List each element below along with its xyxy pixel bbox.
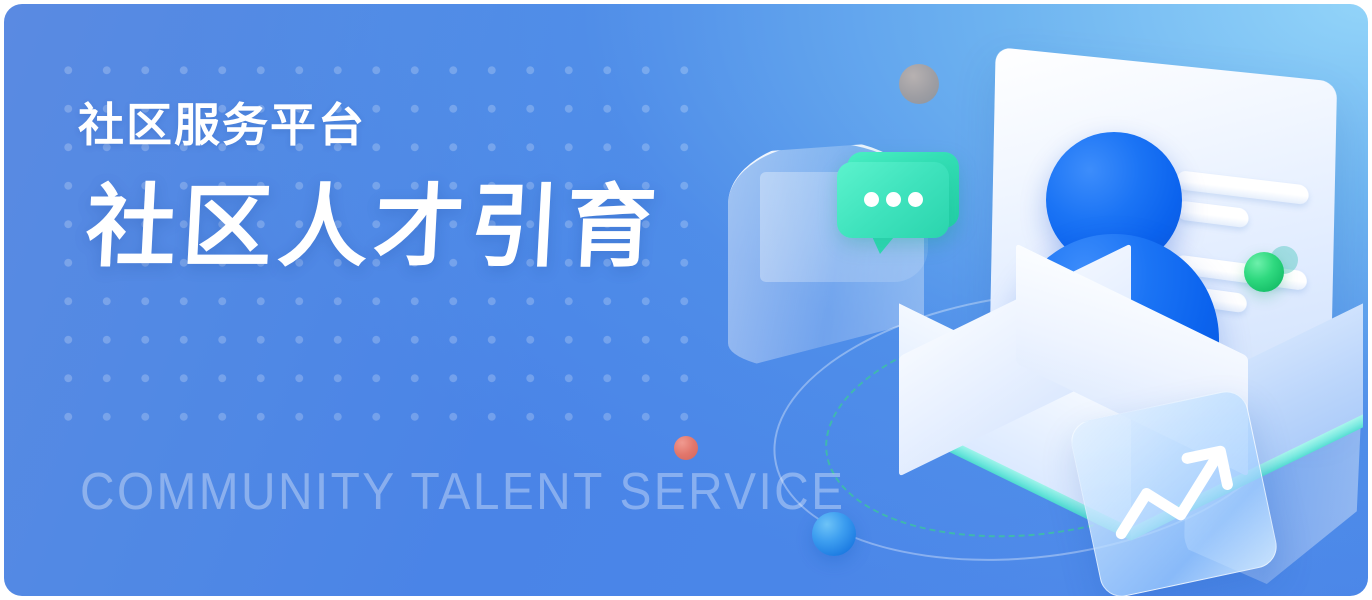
kicker-text: 社区服务平台	[78, 100, 778, 152]
trend-up-arrow-icon	[1067, 387, 1278, 596]
sphere-gray-icon	[899, 64, 939, 104]
banner-root: 社区服务平台 社区人才引育 COMMUNITY TALENT SERVICE	[0, 0, 1372, 600]
chat-dot-2	[886, 192, 901, 207]
chat-dot-3	[908, 192, 923, 207]
sphere-red-icon	[674, 436, 698, 460]
card-line-1	[1177, 170, 1309, 205]
page-title: 社区人才引育	[83, 178, 780, 279]
sphere-green-icon	[1244, 252, 1284, 292]
headline-block: 社区服务平台 社区人才引育	[78, 100, 778, 278]
chat-dot-1	[864, 192, 879, 207]
banner-card: 社区服务平台 社区人才引育 COMMUNITY TALENT SERVICE	[4, 4, 1368, 596]
card-line-2	[1176, 200, 1249, 228]
subtitle-text: COMMUNITY TALENT SERVICE	[80, 466, 845, 518]
